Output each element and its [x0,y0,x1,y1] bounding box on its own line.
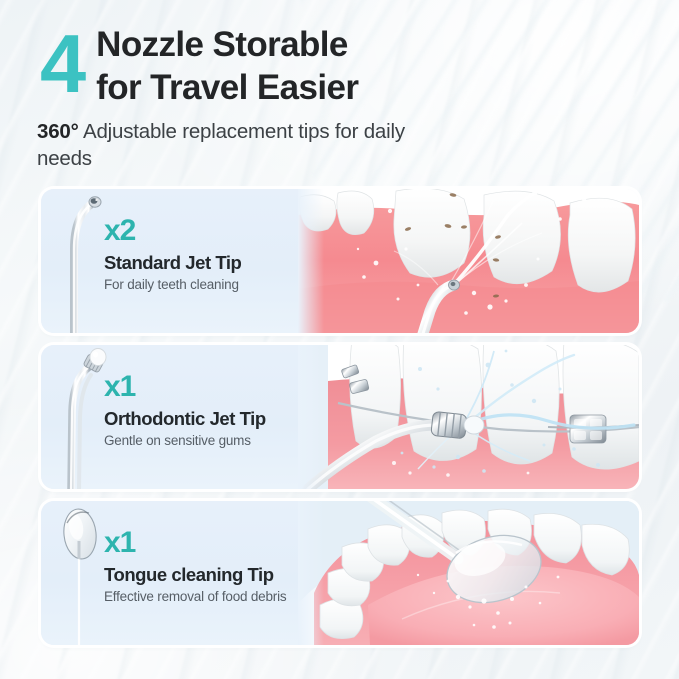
tongue-cleaning-illustration [298,501,639,645]
headline-line-2: for Travel Easier [96,66,358,109]
standard-jet-tip-icon [55,189,111,333]
tip-card-text: x2 Standard Jet Tip For daily teeth clea… [104,215,304,294]
tip-card-photo-orthodontic-jet [298,345,639,489]
page-headline: 4 Nozzle Storable for Travel Easier [40,22,358,114]
tip-card-photo-tongue-cleaning [298,501,639,645]
tip-card-standard-jet: x2 Standard Jet Tip For daily teeth clea… [41,189,639,333]
tip-card-text: x1 Orthodontic Jet Tip Gentle on sensiti… [104,371,304,450]
tip-name: Standard Jet Tip [104,251,304,275]
tip-card-info-panel: x1 Tongue cleaning Tip Effective removal… [41,501,298,645]
tip-card-tongue-cleaning: x1 Tongue cleaning Tip Effective removal… [41,501,639,645]
tip-quantity: x2 [104,215,304,247]
tip-description: Effective removal of food debris [104,588,304,606]
headline-line-1: Nozzle Storable [96,23,358,66]
teeth-spray-illustration [298,189,639,333]
headline-lines: Nozzle Storable for Travel Easier [96,23,358,109]
tongue-cleaning-tip-icon [55,501,111,645]
tip-quantity: x1 [104,371,304,403]
product-infographic-page: 4 Nozzle Storable for Travel Easier 360°… [0,0,679,679]
orthodontic-jet-tip-icon [55,345,111,489]
tip-card-info-panel: x2 Standard Jet Tip For daily teeth clea… [41,189,298,333]
subheadline-rest: Adjustable replacement tips for daily ne… [37,120,405,170]
tip-card-info-panel: x1 Orthodontic Jet Tip Gentle on sensiti… [41,345,298,489]
tip-description: For daily teeth cleaning [104,276,304,294]
tip-description: Gentle on sensitive gums [104,432,304,450]
tip-name: Orthodontic Jet Tip [104,407,304,431]
braces-cleaning-illustration [298,345,639,489]
tip-card-photo-standard-jet [298,189,639,333]
tip-card-text: x1 Tongue cleaning Tip Effective removal… [104,527,304,606]
subheadline-emphasis: 360° [37,120,79,143]
tip-card-orthodontic-jet: x1 Orthodontic Jet Tip Gentle on sensiti… [41,345,639,489]
headline-number: 4 [40,25,83,104]
page-subheadline: 360° Adjustable replacement tips for dai… [37,118,417,172]
tip-quantity: x1 [104,527,304,559]
tip-name: Tongue cleaning Tip [104,563,304,587]
